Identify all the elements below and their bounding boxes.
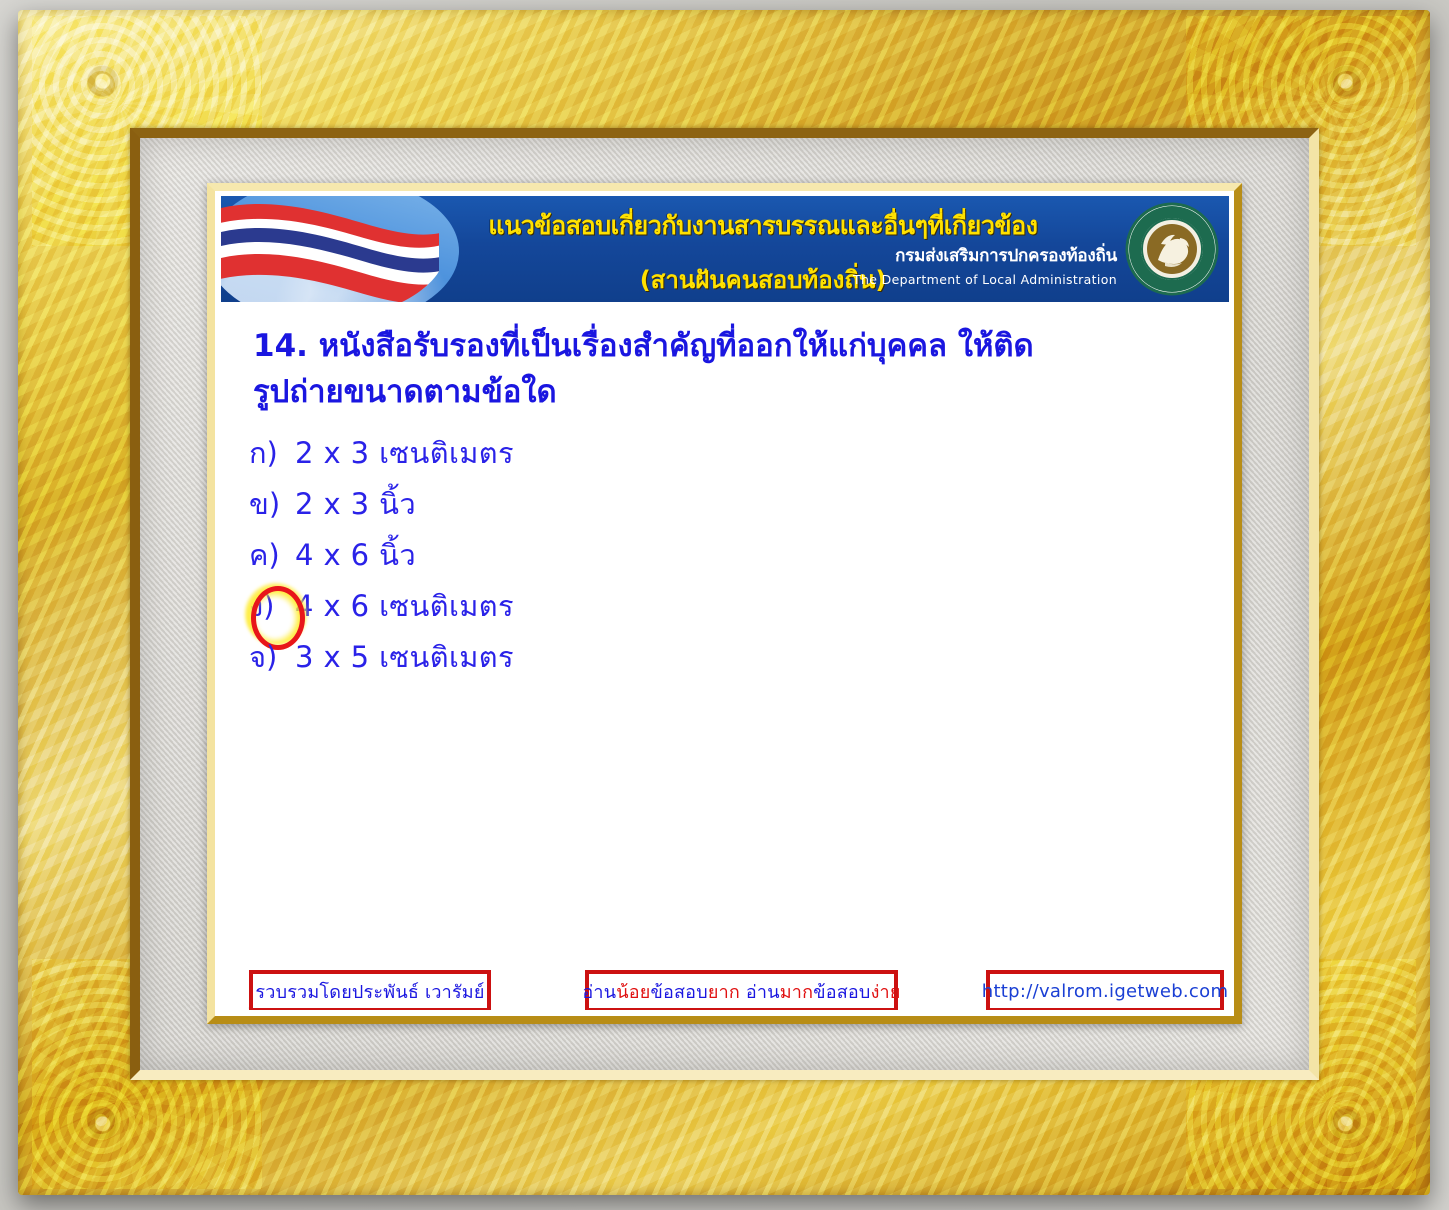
department-name-th: กรมส่งเสริมการปกครองท้องถิ่น [853,242,1117,269]
slogan-text: อ่านน้อยข้อสอบยาก อ่านมากข้อสอบง่าย [582,977,900,1006]
slogan-part: น้อย [616,982,650,1003]
slogan-part: ข้อสอบ [650,982,707,1003]
banner-title: แนวข้อสอบเกี่ยวกับงานสารบรรณและอื่นๆที่เ… [439,206,1087,246]
choice-label: ข) [249,490,295,519]
department-emblem-icon [1125,202,1219,296]
choice-option-cho[interactable]: จ)3 x 5 เซนติเมตร [249,632,1229,683]
slide-banner: แนวข้อสอบเกี่ยวกับงานสารบรรณและอื่นๆที่เ… [221,196,1229,302]
choice-option-ka[interactable]: ก)2 x 3 เซนติเมตร [249,428,1229,479]
screenshot-stage: แนวข้อสอบเกี่ยวกับงานสารบรรณและอื่นๆที่เ… [0,0,1449,1210]
website-url[interactable]: http://valrom.igetweb.com [982,981,1229,1002]
choice-label: ก) [249,439,295,468]
credit-text: รวบรวมโดยประพันธ์ เวารัมย์ [255,977,484,1006]
website-box[interactable]: http://valrom.igetweb.com [986,970,1224,1010]
slogan-part: ง่าย [871,982,901,1003]
department-name-en: The Department of Local Administration [853,272,1117,287]
slide-content: แนวข้อสอบเกี่ยวกับงานสารบรรณและอื่นๆที่เ… [221,196,1229,1010]
question-line-2: รูปถ่ายขนาดตามข้อใด [253,370,1199,414]
choice-text: 4 x 6 เซนติเมตร [295,589,514,623]
slogan-part: มาก [780,982,813,1003]
question-text: 14. หนังสือรับรองที่เป็นเรื่องสำคัญที่ออ… [253,324,1199,414]
choice-label: จ) [249,643,295,672]
credit-box: รวบรวมโดยประพันธ์ เวารัมย์ [249,970,491,1010]
slogan-part: ข้อสอบ [813,982,870,1003]
choice-text: 2 x 3 เซนติเมตร [295,436,514,470]
choice-option-kho-khwai[interactable]: ค)4 x 6 นิ้ว [249,530,1229,581]
slogan-part: ยาก [708,982,740,1003]
slogan-box: อ่านน้อยข้อสอบยาก อ่านมากข้อสอบง่าย [585,970,898,1010]
thai-flag-icon [221,200,439,302]
slogan-part: อ่าน [582,982,616,1003]
choice-text: 4 x 6 นิ้ว [295,538,416,572]
choices-list: ก)2 x 3 เซนติเมตร ข)2 x 3 นิ้ว ค)4 x 6 น… [249,428,1229,683]
choice-option-ngo[interactable]: ง)4 x 6 เซนติเมตร [249,581,1229,632]
choice-text: 3 x 5 เซนติเมตร [295,640,514,674]
question-line-1: 14. หนังสือรับรองที่เป็นเรื่องสำคัญที่ออ… [253,324,1199,368]
choice-option-kho[interactable]: ข)2 x 3 นิ้ว [249,479,1229,530]
slide-body: 14. หนังสือรับรองที่เป็นเรื่องสำคัญที่ออ… [221,302,1229,1010]
choice-text: 2 x 3 นิ้ว [295,487,416,521]
slogan-part: อ่าน [746,982,780,1003]
choice-label: ค) [249,541,295,570]
slide-footer: รวบรวมโดยประพันธ์ เวารัมย์ อ่านน้อยข้อสอ… [221,970,1229,1010]
department-name-block: กรมส่งเสริมการปกครองท้องถิ่น The Departm… [853,242,1117,287]
